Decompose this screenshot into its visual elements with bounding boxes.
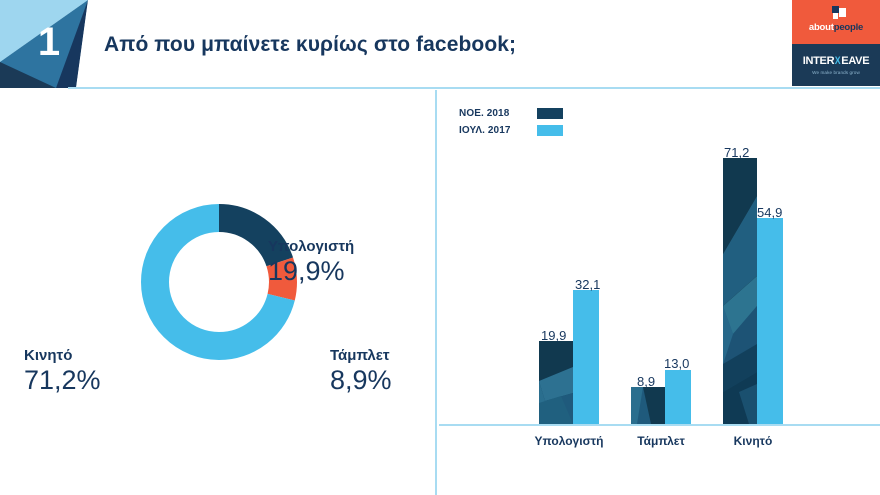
bar-category-desktop: Υπολογιστή [519, 434, 619, 448]
bar-chart-axis [439, 424, 880, 426]
interweave-logo: INTERXEAVE We make brands grow [792, 44, 880, 86]
bar-jul2017-desktop [573, 290, 599, 424]
slide-number: 1 [26, 16, 72, 68]
page-title: Από που μπαίνετε κυρίως στο facebook; [104, 26, 744, 64]
bar-jul2017-mobile [757, 218, 783, 424]
bar-category-tablet: Τάμπλετ [611, 434, 711, 448]
donut-label-tablet-name: Τάμπλετ [330, 346, 392, 365]
people-word: people [834, 22, 863, 33]
interweave-wordmark: INTERXEAVE [792, 55, 880, 67]
about-word: about [809, 22, 834, 33]
bar-chart-panel: ΝΟΕ. 2018 ΙΟΥΛ. 2017 19,9 32,1 Υπολογιστ… [435, 90, 880, 495]
bar-value-nov2018-tablet: 8,9 [637, 374, 655, 389]
donut-label-desktop-value: 19,9% [268, 256, 354, 287]
donut-label-mobile: Κινητό 71,2% [24, 346, 101, 396]
donut-label-tablet-value: 8,9% [330, 365, 392, 396]
donut-label-desktop: Υπολογιστή 19,9% [268, 237, 354, 287]
header-divider [68, 87, 880, 89]
donut-label-mobile-name: Κινητό [24, 346, 101, 365]
bar-facet-texture-icon [723, 158, 757, 424]
interweave-part1: INTER [803, 55, 835, 67]
bar-nov2018-desktop [539, 341, 573, 424]
bar-value-jul2017-mobile: 54,9 [757, 205, 782, 220]
bar-facet-texture-icon [631, 387, 665, 424]
bar-value-nov2018-desktop: 19,9 [541, 328, 566, 343]
donut-chart-panel: Υπολογιστή 19,9% Τάμπλετ 8,9% Κινητό 71,… [0, 90, 435, 495]
bar-plot-area: 19,9 32,1 Υπολογιστή 8,9 13,0 Τάμπλετ [435, 90, 880, 495]
bar-jul2017-tablet [665, 370, 691, 424]
slide-header: 1 Από που μπαίνετε κυρίως στο facebook; … [0, 0, 880, 88]
donut-label-mobile-value: 71,2% [24, 365, 101, 396]
about-people-wordmark: aboutpeople [792, 22, 880, 33]
donut-label-tablet: Τάμπλετ 8,9% [330, 346, 392, 396]
interweave-tagline: We make brands grow [792, 70, 880, 75]
bar-value-nov2018-mobile: 71,2 [724, 145, 749, 160]
logo-stack: aboutpeople INTERXEAVE We make brands gr… [792, 0, 880, 86]
about-people-logo: aboutpeople [792, 0, 880, 44]
bar-value-jul2017-tablet: 13,0 [664, 356, 689, 371]
bar-value-jul2017-desktop: 32,1 [575, 277, 600, 292]
interweave-part2: EAVE [841, 55, 869, 67]
speech-bubble-icon [832, 6, 846, 19]
slide-number-badge: 1 [0, 0, 120, 88]
bar-nov2018-mobile [723, 158, 757, 424]
interweave-x-icon: X [835, 55, 841, 67]
bar-category-mobile: Κινητό [703, 434, 803, 448]
bar-facet-texture-icon [539, 341, 573, 424]
donut-label-desktop-name: Υπολογιστή [268, 237, 354, 256]
bar-nov2018-tablet [631, 387, 665, 424]
